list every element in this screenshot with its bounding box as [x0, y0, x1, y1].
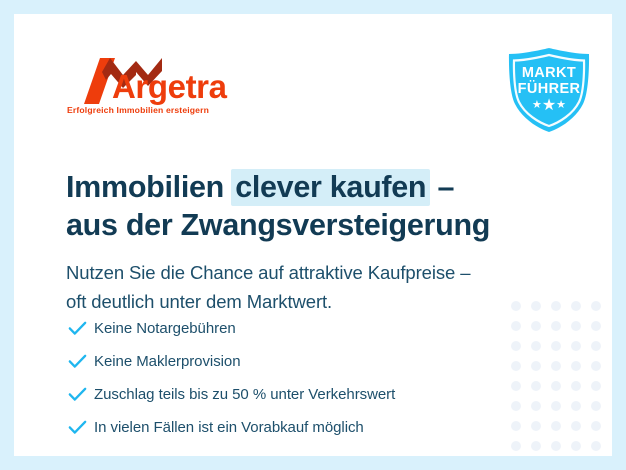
decorative-dot: [526, 396, 546, 416]
headline-line-1: Immobilien clever kaufen –: [66, 170, 454, 204]
list-item-label: Keine Notargebühren: [94, 320, 236, 337]
decorative-dot: [566, 436, 586, 456]
benefit-list: Keine NotargebührenKeine Maklerprovision…: [68, 312, 395, 444]
decorative-dot: [506, 316, 526, 336]
headline-line-2: aus der Zwangsversteigerung: [66, 208, 490, 242]
decorative-dot: [506, 396, 526, 416]
banner-card: Argetra Erfolgreich Immobilien ersteiger…: [14, 14, 612, 456]
decorative-dot: [546, 416, 566, 436]
decorative-dot: [506, 376, 526, 396]
decorative-dot: [566, 396, 586, 416]
decorative-dot: [506, 416, 526, 436]
decorative-dot: [546, 296, 566, 316]
check-icon: [68, 387, 94, 402]
decorative-dot: [546, 376, 566, 396]
advertisement-banner: Argetra Erfolgreich Immobilien ersteiger…: [0, 0, 626, 470]
list-item: Zuschlag teils bis zu 50 % unter Verkehr…: [68, 378, 395, 411]
shield-icon: [503, 46, 595, 134]
decorative-dot: [506, 356, 526, 376]
logo-tagline: Erfolgreich Immobilien ersteigern: [67, 105, 209, 115]
decorative-dot: [586, 376, 606, 396]
decorative-dot-grid: [506, 296, 606, 456]
decorative-dot: [566, 416, 586, 436]
subheadline: Nutzen Sie die Chance auf attraktive Kau…: [66, 258, 470, 316]
decorative-dot: [526, 376, 546, 396]
list-item-label: Zuschlag teils bis zu 50 % unter Verkehr…: [94, 386, 395, 403]
decorative-dot: [586, 316, 606, 336]
decorative-dot: [526, 316, 546, 336]
decorative-dot: [546, 396, 566, 416]
decorative-dot: [526, 436, 546, 456]
decorative-dot: [566, 296, 586, 316]
headline-text-before: Immobilien: [66, 170, 224, 204]
decorative-dot: [546, 316, 566, 336]
page-title: Immobilien clever kaufen – aus der Zwang…: [66, 168, 490, 244]
decorative-dot: [506, 436, 526, 456]
decorative-dot: [586, 436, 606, 456]
decorative-dot: [526, 336, 546, 356]
decorative-dot: [586, 296, 606, 316]
list-item-label: In vielen Fällen ist ein Vorabkauf mögli…: [94, 419, 364, 436]
subheadline-line-1: Nutzen Sie die Chance auf attraktive Kau…: [66, 262, 470, 283]
list-item: Keine Maklerprovision: [68, 345, 395, 378]
decorative-dot: [586, 416, 606, 436]
decorative-dot: [546, 356, 566, 376]
decorative-dot: [546, 336, 566, 356]
market-leader-badge: MARKT FÜHRER ★★★: [503, 46, 595, 134]
argetra-logo[interactable]: Argetra Erfolgreich Immobilien ersteiger…: [66, 58, 266, 122]
decorative-dot: [506, 336, 526, 356]
decorative-dot: [526, 356, 546, 376]
list-item: Keine Notargebühren: [68, 312, 395, 345]
decorative-dot: [586, 336, 606, 356]
decorative-dot: [566, 336, 586, 356]
subheadline-line-2: oft deutlich unter dem Marktwert.: [66, 291, 332, 312]
decorative-dot: [526, 416, 546, 436]
decorative-dot: [566, 356, 586, 376]
list-item-label: Keine Maklerprovision: [94, 353, 241, 370]
decorative-dot: [566, 376, 586, 396]
check-icon: [68, 420, 94, 435]
logo-wordmark: Argetra: [112, 70, 227, 103]
decorative-dot: [546, 436, 566, 456]
check-icon: [68, 354, 94, 369]
headline-text-after: –: [437, 170, 454, 204]
decorative-dot: [586, 356, 606, 376]
decorative-dot: [526, 296, 546, 316]
decorative-dot: [566, 316, 586, 336]
list-item: In vielen Fällen ist ein Vorabkauf mögli…: [68, 411, 395, 444]
check-icon: [68, 321, 94, 336]
decorative-dot: [586, 396, 606, 416]
headline-highlight: clever kaufen: [231, 169, 430, 206]
decorative-dot: [506, 296, 526, 316]
